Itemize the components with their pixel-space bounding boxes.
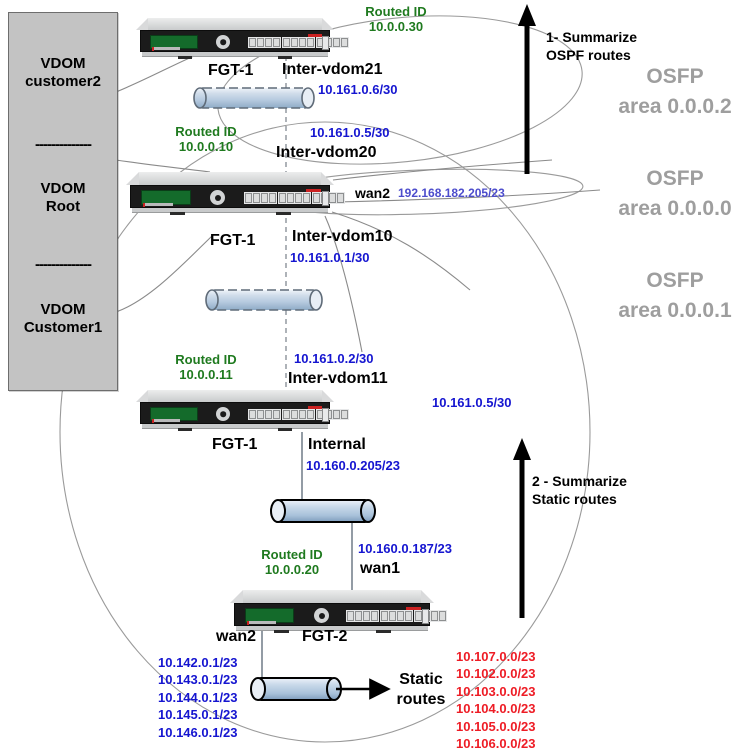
interface-label-wan1-fgt2: wan1 [360,560,400,578]
annotation-summarize-ospf: 1- Summarize OSPF routes [546,28,637,65]
interface-ip-wan2-root: 192.168.182.205/23 [398,187,505,200]
interface-ip-inter-vdom21: 10.161.0.6/30 [318,83,398,98]
vdom-root-line1: VDOM [41,180,86,197]
vdom-section-root: VDOM Root [9,180,117,217]
interface-label-wan2-fgt2: wan2 [216,628,256,646]
router-id-caption-3: Routed ID [175,352,236,367]
router-id-caption-1: Routed ID [365,4,426,19]
interface-label-inter-vdom21: Inter-vdom21 [282,61,382,79]
device-label-fgt1-customer2: FGT-1 [208,62,253,80]
ospf-area-label-0: OSFP area 0.0.0.0 [600,164,750,225]
ospf-area-label-2: OSFP area 0.0.0.2 [600,62,750,123]
switch-cylinder-static [251,678,341,700]
static-route-5: 10.106.0.0/23 [456,735,536,752]
static-routes-label: Static routes [378,670,464,710]
interface-ip-internal: 10.160.0.205/23 [306,459,400,474]
device-fgt1-root [126,172,334,216]
vdom-divider-2: -------------- [9,256,117,273]
interface-ip-wan1-fgt2: 10.160.0.187/23 [358,542,452,557]
vdom-customer1-line2: Customer1 [24,319,102,336]
summarize-ospf-arrow [518,4,536,174]
device-label-fgt1-root: FGT-1 [210,232,255,250]
switch-cylinder-top [194,88,314,108]
vdom-customer1-line1: VDOM [41,301,86,318]
annotation-summarize-static: 2 - Summarize Static routes [532,472,627,509]
static-route-3: 10.104.0.0/23 [456,700,536,717]
router-id-10-0-0-10: Routed ID 10.0.0.10 [146,125,266,154]
vdom-section-customer2: VDOM customer2 [9,55,117,92]
vdom-panel: VDOM customer2 -------------- VDOM Root … [8,12,118,391]
device-label-fgt1-customer1: FGT-1 [212,436,257,454]
static-routes-line1: Static [399,671,443,688]
wan2-network-4: 10.146.0.1/23 [158,724,238,741]
static-route-1: 10.102.0.0/23 [456,665,536,682]
vdom-divider-1: -------------- [9,136,117,153]
annotation-2-line1: 2 - Summarize [532,473,627,489]
switch-cylinder-internal [271,500,375,522]
switch-cylinder-middle [206,290,322,310]
router-id-10-0-0-20: Routed ID 10.0.0.20 [232,548,352,577]
diagram-canvas: VDOM customer2 -------------- VDOM Root … [0,0,755,754]
ospf-area-label-1: OSFP area 0.0.0.1 [600,266,750,327]
router-id-10-0-0-30: Routed ID 10.0.0.30 [336,5,456,34]
interface-ip-inter-vdom10: 10.161.0.1/30 [290,251,370,266]
device-fgt1-customer1 [136,390,334,432]
interface-label-internal: Internal [308,436,366,454]
wan2-network-3: 10.145.0.1/23 [158,706,238,723]
router-id-value-1: 10.0.0.30 [369,19,423,34]
device-label-fgt2: FGT-2 [302,628,347,646]
wan2-network-2: 10.144.0.1/23 [158,689,238,706]
ospf-area-2-line1: OSFP [646,65,703,88]
interface-label-wan2-root: wan2 [355,186,390,202]
annotation-2-line2: Static routes [532,491,617,507]
router-id-value-4: 10.0.0.20 [265,562,319,577]
ospf-area-1-line2: area 0.0.0.1 [618,299,731,322]
static-routes-line2: routes [397,691,446,708]
static-route-2: 10.103.0.0/23 [456,683,536,700]
static-route-0: 10.107.0.0/23 [456,648,536,665]
static-route-network-list: 10.107.0.0/23 10.102.0.0/23 10.103.0.0/2… [456,648,536,752]
summarize-static-arrow [513,438,531,618]
annotation-1-line1: 1- Summarize [546,29,637,45]
router-id-caption-2: Routed ID [175,124,236,139]
interface-ip-inter-vdom11: 10.161.0.2/30 [294,352,374,367]
router-id-value-3: 10.0.0.11 [179,367,233,382]
ospf-area-0-line2: area 0.0.0.0 [618,197,731,220]
vdom-customer2-line1: VDOM [41,55,86,72]
device-fgt1-customer2 [136,18,334,60]
vdom-section-customer1: VDOM Customer1 [9,301,117,338]
wan2-network-list: 10.142.0.1/23 10.143.0.1/23 10.144.0.1/2… [158,654,238,741]
ospf-area-1-line1: OSFP [646,269,703,292]
wan2-network-0: 10.142.0.1/23 [158,654,238,671]
interface-label-inter-vdom10: Inter-vdom10 [292,228,392,246]
interface-label-inter-vdom11: Inter-vdom11 [288,370,388,388]
router-id-value-2: 10.0.0.10 [179,139,233,154]
vdom-customer2-line2: customer2 [25,73,101,90]
interface-ip-inter-vdom20: 10.161.0.5/30 [310,126,390,141]
vdom-root-line2: Root [46,198,80,215]
router-id-10-0-0-11: Routed ID 10.0.0.11 [146,353,266,382]
subnet-label-10-161-0-5: 10.161.0.5/30 [432,396,512,411]
static-route-4: 10.105.0.0/23 [456,718,536,735]
router-id-caption-4: Routed ID [261,547,322,562]
ospf-area-2-line2: area 0.0.0.2 [618,95,731,118]
interface-label-inter-vdom20: Inter-vdom20 [276,144,376,162]
ospf-area-0-line1: OSFP [646,167,703,190]
wan2-network-1: 10.143.0.1/23 [158,671,238,688]
